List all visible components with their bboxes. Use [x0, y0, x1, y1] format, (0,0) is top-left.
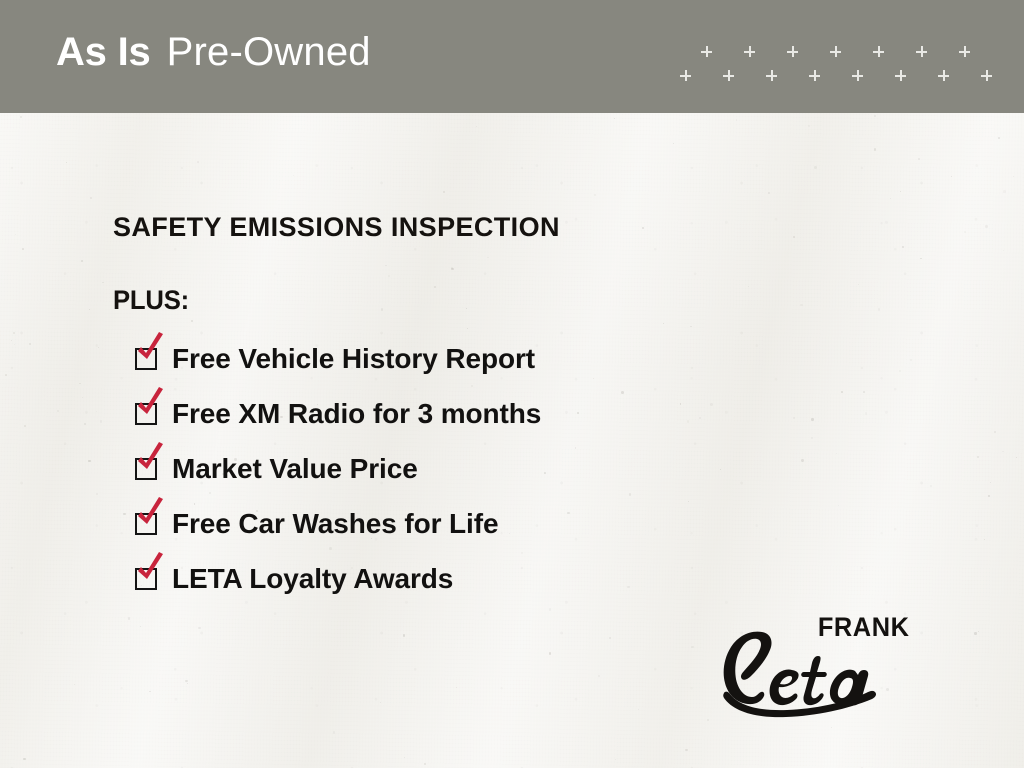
- checklist-item[interactable]: Free Car Washes for Life: [135, 508, 835, 563]
- slide-canvas: As IsPre-Owned SAFETY EMISSIONS INSPECTI…: [0, 0, 1024, 768]
- checklist-item[interactable]: Free Vehicle History Report: [135, 343, 835, 398]
- checkmark-icon: [132, 385, 166, 419]
- checkmark-icon: [132, 440, 166, 474]
- checklist-item-label: Free Vehicle History Report: [172, 343, 535, 375]
- checklist-item[interactable]: Free XM Radio for 3 months: [135, 398, 835, 453]
- checklist-item-label: Market Value Price: [172, 453, 418, 485]
- checklist-item-label: LETA Loyalty Awards: [172, 563, 453, 595]
- logo-leta-script: [700, 626, 915, 720]
- frank-leta-logo: FRANK: [700, 608, 915, 720]
- checkmark-icon: [132, 550, 166, 584]
- checklist-item[interactable]: Market Value Price: [135, 453, 835, 508]
- checklist-item-label: Free Car Washes for Life: [172, 508, 498, 540]
- slide-content: SAFETY EMISSIONS INSPECTION PLUS: Free V…: [0, 0, 1024, 768]
- checkmark-icon: [132, 495, 166, 529]
- plus-heading: PLUS:: [113, 287, 189, 314]
- checkmark-icon: [132, 330, 166, 364]
- benefits-checklist: Free Vehicle History ReportFree XM Radio…: [135, 343, 835, 618]
- section-heading: SAFETY EMISSIONS INSPECTION: [113, 214, 560, 241]
- checklist-item-label: Free XM Radio for 3 months: [172, 398, 541, 430]
